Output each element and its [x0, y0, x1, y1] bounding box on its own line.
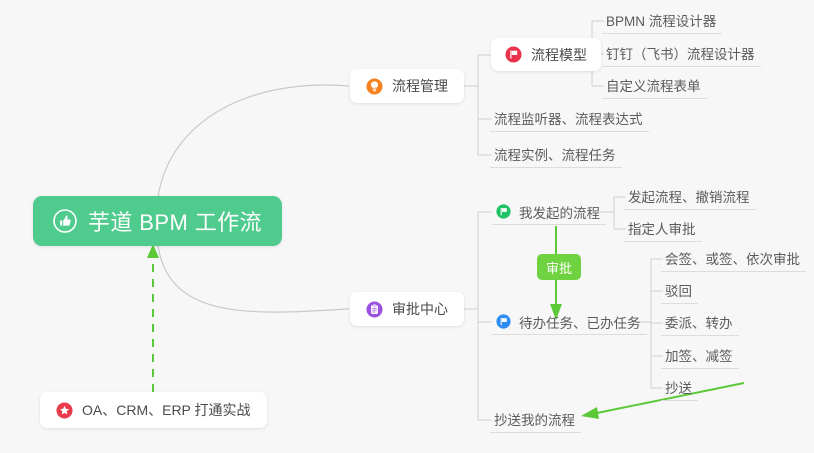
mindmap-canvas: 芋道 BPM 工作流 OA、CRM、ERP 打通实战 流程管理: [0, 0, 814, 453]
leaf-add-remove-sign[interactable]: 加签、减签: [661, 343, 739, 369]
leaf-bpmn-designer[interactable]: BPMN 流程设计器: [602, 8, 722, 34]
annotation-approval-badge-label: 审批: [546, 258, 572, 277]
node-label-todo-done-tasks: 待办任务、已办任务: [519, 312, 641, 332]
annotation-root-uplink: [147, 244, 159, 392]
leaf-cc-my-processes[interactable]: 抄送我的流程: [490, 407, 581, 433]
leaf-countersign-orsign-sequential[interactable]: 会签、或签、依次审批: [661, 246, 806, 272]
node-process-model[interactable]: 流程模型: [491, 38, 601, 71]
leaf-process-listener-expression[interactable]: 流程监听器、流程表达式: [490, 106, 649, 132]
node-label-process-model: 流程模型: [531, 45, 587, 65]
lightbulb-icon: [366, 78, 383, 95]
root-node-label: 芋道 BPM 工作流: [88, 205, 262, 237]
leaf-reject[interactable]: 驳回: [661, 278, 698, 304]
leaf-label-delegate-transfer: 委派、转办: [665, 312, 733, 332]
leaf-label-cc-my-processes: 抄送我的流程: [494, 409, 575, 429]
leaf-label-reject: 驳回: [665, 280, 692, 300]
leaf-designated-approver[interactable]: 指定人审批: [624, 216, 702, 242]
leaf-delegate-transfer[interactable]: 委派、转办: [661, 310, 739, 336]
leaf-label-process-listener-expression: 流程监听器、流程表达式: [494, 108, 643, 128]
leaf-custom-process-form[interactable]: 自定义流程表单: [602, 73, 707, 99]
leaf-label-process-instance-task: 流程实例、流程任务: [494, 144, 616, 164]
leaf-label-start-cancel-process: 发起流程、撤销流程: [628, 186, 750, 206]
branch-node-process-management[interactable]: 流程管理: [350, 69, 464, 103]
clipboard-icon: [366, 301, 383, 318]
leaf-label-carbon-copy: 抄送: [665, 377, 692, 397]
leaf-label-countersign-orsign-sequential: 会签、或签、依次审批: [665, 248, 800, 268]
edge-root-to-process-management: [158, 85, 349, 197]
star-icon: [56, 402, 73, 419]
leaf-label-add-remove-sign: 加签、减签: [665, 345, 733, 365]
node-todo-done-tasks[interactable]: 待办任务、已办任务: [492, 309, 647, 335]
node-my-started-processes[interactable]: 我发起的流程: [492, 199, 606, 225]
flag-icon-blue: [496, 314, 511, 329]
branch-label-approval-center: 审批中心: [392, 299, 448, 319]
leaf-dingtalk-feishu-designer[interactable]: 钉钉（飞书）流程设计器: [602, 41, 761, 67]
leaf-carbon-copy[interactable]: 抄送: [661, 375, 698, 401]
annotation-approval-badge: 审批: [537, 254, 581, 280]
thumbs-up-icon: [53, 209, 77, 233]
leaf-label-dingtalk-feishu-designer: 钉钉（飞书）流程设计器: [606, 43, 755, 63]
leaf-label-bpmn-designer: BPMN 流程设计器: [606, 10, 716, 30]
leaf-label-custom-process-form: 自定义流程表单: [606, 75, 701, 95]
bottom-note-node[interactable]: OA、CRM、ERP 打通实战: [40, 392, 267, 428]
flag-icon-green: [496, 204, 511, 219]
leaf-label-designated-approver: 指定人审批: [628, 218, 696, 238]
flag-icon-red: [505, 46, 522, 63]
leaf-start-cancel-process[interactable]: 发起流程、撤销流程: [624, 184, 756, 210]
edge-root-to-approval-center: [158, 246, 349, 312]
root-node[interactable]: 芋道 BPM 工作流: [33, 196, 282, 246]
branch-label-process-management: 流程管理: [392, 76, 448, 96]
branch-node-approval-center[interactable]: 审批中心: [350, 292, 464, 326]
node-label-my-started-processes: 我发起的流程: [519, 202, 600, 222]
bottom-note-label: OA、CRM、ERP 打通实战: [82, 400, 251, 420]
leaf-process-instance-task[interactable]: 流程实例、流程任务: [490, 142, 622, 168]
